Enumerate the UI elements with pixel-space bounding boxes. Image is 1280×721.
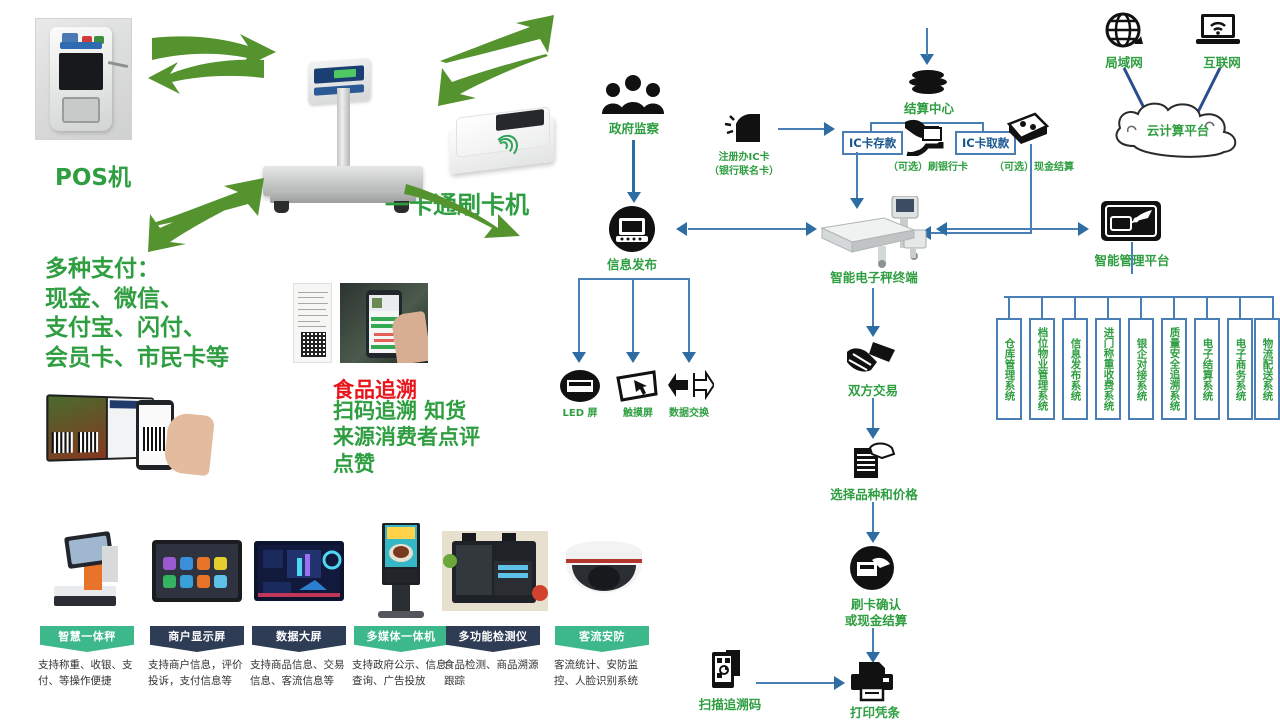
payment-line-1: 现金、微信、: [45, 285, 229, 315]
scan-to-print-line: [756, 682, 842, 684]
smart-scale-terminal-label: 智能电子秤终端: [818, 267, 930, 286]
system-box-4[interactable]: 银企对接系统: [1128, 318, 1154, 420]
swipe-to-print-line: [872, 628, 874, 654]
government-supervision-icon: [600, 74, 666, 118]
cash-settlement-label: （可选）现金结算: [985, 158, 1083, 173]
systems-bus: [1004, 296, 1274, 298]
product-desc-0: 支持称重、收银、支付、等操作便捷: [38, 658, 138, 690]
product-tag-4: 多功能检测仪: [446, 626, 540, 652]
printer-icon: [849, 662, 895, 706]
smart-management-platform-icon: [1100, 200, 1162, 246]
flow-bus-horizontal: [578, 278, 690, 280]
food-traceability-text: 扫码追溯 知货 来源消费者点评 点赞: [333, 398, 480, 477]
internet-laptop-icon: [1196, 14, 1240, 52]
info-scale-arrow-right: [806, 222, 817, 236]
scale-mgmt-arrow-right: [1078, 222, 1089, 236]
all-in-one-card-reader-photo: [450, 100, 560, 178]
product-desc-1: 支持商户信息，评价投诉，支付信息等: [148, 658, 248, 690]
flow-arrow-down-2: [626, 352, 640, 363]
info-release-label: 信息发布: [592, 254, 672, 273]
payment-line-3: 会员卡、市民卡等: [45, 344, 229, 374]
payment-methods-text: 多种支付： 现金、微信、 支付宝、闪付、 会员卡、市民卡等: [45, 255, 229, 374]
green-arrow-left-upper: [430, 54, 550, 106]
flow-arrow-down-1: [572, 352, 586, 363]
select-price-label: 选择品种和价格: [822, 484, 926, 503]
green-arrow-left-top: [148, 56, 266, 98]
smart-scale-icon: [38, 528, 136, 614]
settlement-center-label: 结算中心: [894, 98, 964, 117]
swipe-card-icon: [850, 546, 894, 594]
mgmt-down-line: [1131, 242, 1133, 274]
swipe-bank-card-icon: [903, 118, 949, 160]
flow-connector: [632, 140, 635, 194]
government-supervision-label: 政府监察: [594, 118, 674, 137]
system-box-7[interactable]: 电子商务系统: [1227, 318, 1253, 420]
pos-machine-photo: [35, 18, 132, 140]
data-board-icon: [250, 528, 348, 614]
select-to-swipe-arrow: [866, 532, 880, 543]
payment-line-2: 支付宝、闪付、: [45, 314, 229, 344]
trade-label: 双方交易: [838, 380, 908, 399]
kiosk-icon: [352, 528, 450, 614]
sys-drop-1: [1041, 296, 1043, 318]
sys-drop-8: [1272, 296, 1274, 318]
register-ic-card-icon: [722, 112, 764, 148]
system-box-0[interactable]: 仓库管理系统: [996, 318, 1022, 420]
product-tag-1: 商户显示屏: [150, 626, 244, 652]
product-desc-5: 客流统计、安防监控、人脸识别系统: [554, 658, 654, 690]
trade-to-select-arrow: [866, 428, 880, 439]
dome-camera-icon: [552, 528, 656, 614]
trace-line-3: 点赞: [333, 451, 480, 477]
data-exchange-label: 数据交换: [656, 404, 722, 419]
trade-to-select-line: [872, 398, 874, 430]
product-desc-3: 支持政府公示、信息查询、广告投放: [352, 658, 452, 690]
green-arrow-left-lower: [140, 196, 252, 252]
scale-to-trade-arrow: [866, 326, 880, 337]
led-screen-label: LED 屏: [551, 404, 609, 419]
sys-drop-4: [1140, 296, 1142, 318]
flow-arrow-down-3: [682, 352, 696, 363]
select-list-icon: [852, 442, 896, 484]
swipe-confirm-label-2: 或现金结算: [832, 610, 920, 629]
merchant-display-icon: [148, 528, 246, 614]
detector-case-icon: [440, 528, 550, 614]
product-desc-4: 食品检测、商品溯源跟踪: [444, 658, 544, 690]
handshake-icon: [843, 340, 901, 380]
sys-drop-6: [1206, 296, 1208, 318]
sys-drop-2: [1074, 296, 1076, 318]
touch-screen-icon: [616, 370, 658, 406]
flow-branch-3: [688, 278, 690, 354]
scan-to-print-arrow: [834, 676, 845, 690]
cash-bundle-icon: [1007, 112, 1049, 148]
print-receipt-label: 打印凭条: [840, 702, 910, 721]
mobile-trace-photo: [340, 283, 428, 363]
info-scale-arrow-left: [676, 222, 687, 236]
led-screen-icon: [560, 370, 600, 406]
product-tag-5: 客流安防: [555, 626, 649, 652]
product-tag-0: 智慧一体秤: [40, 626, 134, 652]
trace-line-2: 来源消费者点评: [333, 424, 480, 450]
cash-down-line: [1030, 144, 1032, 232]
product-tag-3: 多媒体一体机: [354, 626, 448, 652]
data-exchange-icon: [668, 370, 714, 404]
settlement-center-icon: [907, 70, 949, 100]
system-box-1[interactable]: 档位物业管理系统: [1029, 318, 1055, 420]
product-tag-2: 数据大屏: [252, 626, 346, 652]
sys-drop-0: [1008, 296, 1010, 318]
select-to-swipe-line: [872, 502, 874, 534]
deposit-down-line: [856, 152, 858, 200]
register-to-deposit-arrow: [824, 122, 835, 136]
system-box-6[interactable]: 电子结算系统: [1194, 318, 1220, 420]
cloud-platform-label: 云计算平台: [1118, 120, 1238, 139]
swipe-bank-card-label: （可选）刷银行卡: [880, 158, 976, 173]
scale-mgmt-arrow-left: [936, 222, 947, 236]
scale-mgmt-line: [946, 228, 1086, 230]
payment-heading: 多种支付：: [45, 255, 229, 285]
settlement-in-line: [926, 28, 928, 56]
system-box-3[interactable]: 进门称重收费系统: [1095, 318, 1121, 420]
tablet-phone-scan-photo: [48, 396, 213, 474]
sys-drop-3: [1107, 296, 1109, 318]
flow-branch-2: [632, 278, 634, 354]
system-box-8[interactable]: 物流配送系统: [1254, 318, 1280, 420]
register-to-deposit-line: [778, 128, 826, 130]
scale-to-trade-line: [872, 288, 874, 328]
register-ic-card-label: 注册办IC卡: [703, 148, 785, 163]
register-ic-card-sublabel: （银行联名卡）: [703, 162, 785, 177]
info-scale-line: [688, 228, 814, 230]
sys-drop-5: [1173, 296, 1175, 318]
system-box-2[interactable]: 信息发布系统: [1062, 318, 1088, 420]
flow-branch-1: [578, 278, 580, 354]
scan-trace-code-label: 扫描追溯码: [692, 694, 768, 713]
scan-trace-code-icon: [710, 648, 744, 694]
sys-drop-7: [1239, 296, 1241, 318]
receipt-photo: [293, 283, 332, 363]
info-release-icon: [609, 206, 655, 256]
green-arrow-right-bottom: [404, 182, 522, 238]
smart-scale-terminal-icon: [818, 196, 930, 272]
ic-deposit-box[interactable]: IC卡存款: [842, 131, 903, 155]
flow-arrow-down: [627, 192, 641, 203]
lan-globe-icon: [1105, 12, 1143, 54]
product-desc-2: 支持商品信息、交易信息、客流信息等: [250, 658, 350, 690]
trace-line-1: 扫码追溯 知货: [333, 398, 480, 424]
pos-machine-label: POS机: [55, 158, 131, 192]
system-box-5[interactable]: 质量安全追溯系统: [1161, 318, 1187, 420]
